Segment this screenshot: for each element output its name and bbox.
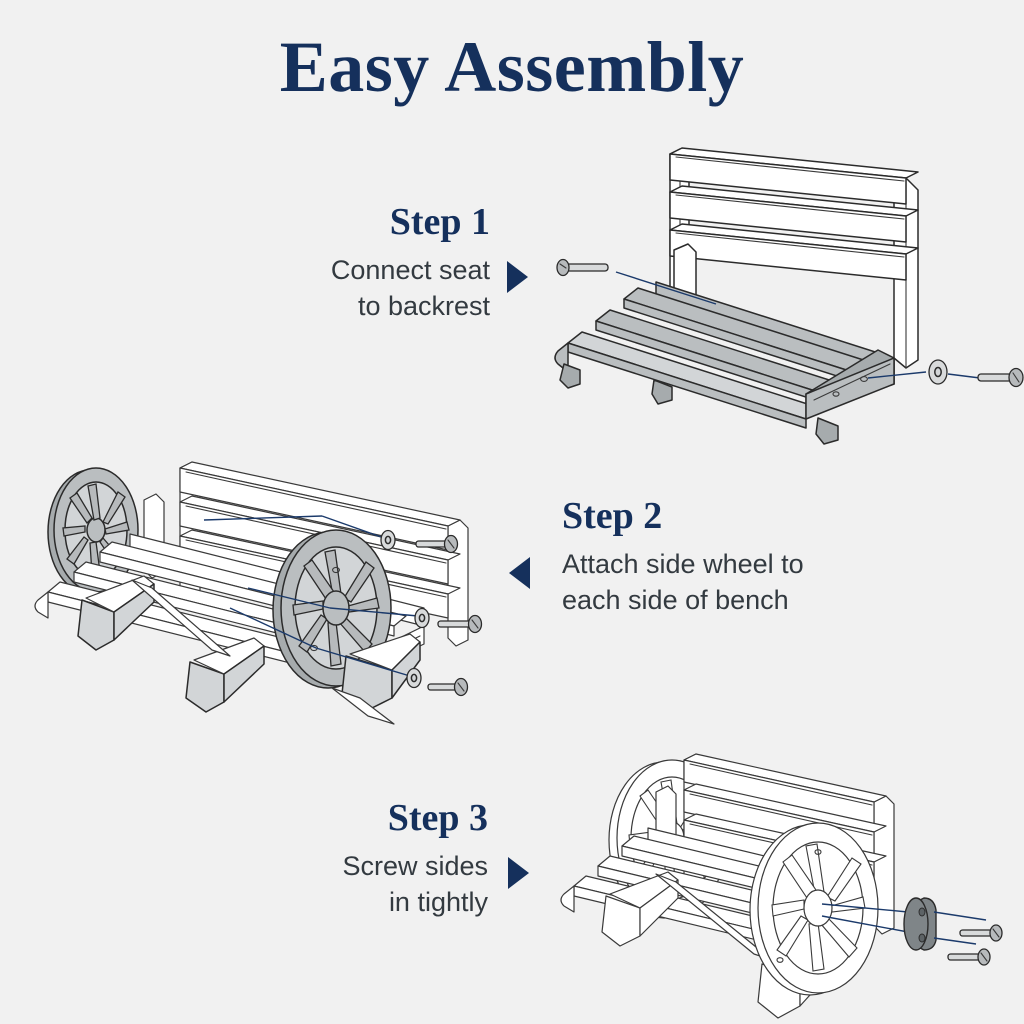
- step-2-text-block: Step 2 Attach side wheel to each side of…: [562, 496, 862, 618]
- step-3-right-wheel: [750, 823, 878, 995]
- step-3-illustration: [556, 692, 1024, 1022]
- infographic-page: Easy Assembly Step 1 Connect seat to bac…: [0, 0, 1024, 1024]
- step-1-arrow-right-icon: [507, 261, 528, 293]
- step-3-arrow-right-icon: [508, 857, 529, 889]
- step-3-text-block: Step 3 Screw sides in tightly: [252, 798, 488, 920]
- step-1-illustration: [546, 132, 1024, 432]
- step-1-heading: Step 1: [250, 202, 490, 244]
- step-1-text-block: Step 1 Connect seat to backrest: [250, 202, 490, 324]
- step-2-body-line-2: each side of bench: [562, 582, 862, 618]
- step-2-heading: Step 2: [562, 496, 862, 538]
- step-3-heading: Step 3: [252, 798, 488, 840]
- step-2-bolt-bottom: [407, 669, 468, 696]
- step-3-screws: [948, 925, 1002, 965]
- step-2-body-line-1: Attach side wheel to: [562, 546, 862, 582]
- step-2-illustration: [24, 412, 514, 742]
- step-3-body-line-2: in tightly: [252, 884, 488, 920]
- step-3-body-line-1: Screw sides: [252, 848, 488, 884]
- step-1-body-line-1: Connect seat: [250, 252, 490, 288]
- step-1-body-line-2: to backrest: [250, 288, 490, 324]
- page-title: Easy Assembly: [0, 26, 1024, 109]
